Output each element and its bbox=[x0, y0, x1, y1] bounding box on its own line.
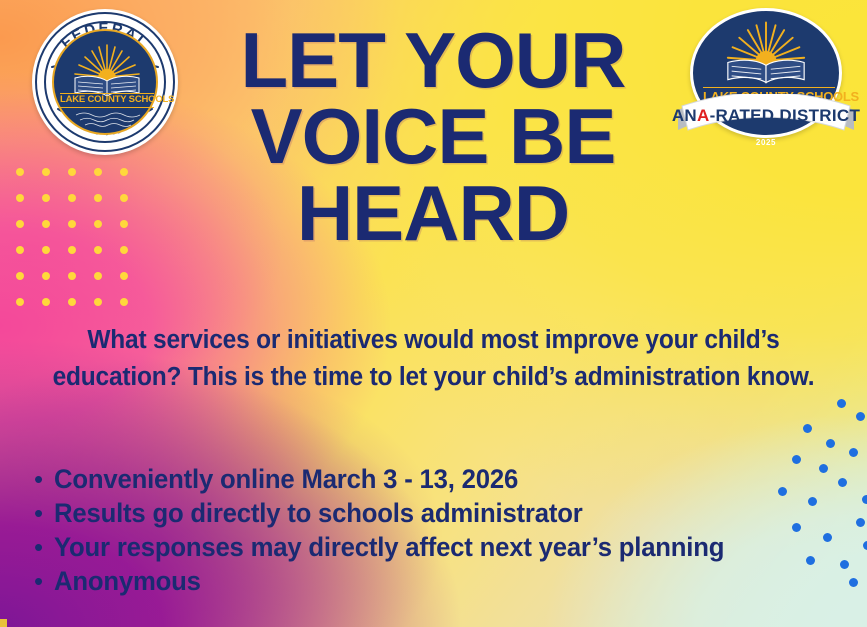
yellow-dot bbox=[16, 168, 24, 176]
seal-center-text: LAKE COUNTY SCHOOLS bbox=[60, 93, 154, 108]
yellow-dot bbox=[16, 298, 24, 306]
blue-dot bbox=[849, 578, 858, 587]
headline-line-1: LET YOUR bbox=[196, 22, 670, 98]
badge-ribbon: AN A-RATED DISTRICT 2025 bbox=[676, 94, 856, 156]
blue-dot bbox=[863, 541, 867, 550]
blue-dot bbox=[849, 448, 858, 457]
yellow-dot bbox=[94, 246, 102, 254]
page-title: LET YOUR VOICE BE HEARD bbox=[196, 22, 670, 251]
yellow-dot bbox=[68, 298, 76, 306]
federal-programs-seal: FEDERAL PROGRAMS bbox=[32, 9, 178, 155]
yellow-dot bbox=[94, 168, 102, 176]
blue-dot bbox=[803, 424, 812, 433]
yellow-dot bbox=[94, 194, 102, 202]
yellow-dot bbox=[16, 220, 24, 228]
yellow-dot bbox=[68, 168, 76, 176]
yellow-dot bbox=[68, 220, 76, 228]
blue-dot bbox=[792, 455, 801, 464]
yellow-dot bbox=[120, 168, 128, 176]
bullet-marker-icon: • bbox=[34, 568, 54, 594]
yellow-dot bbox=[120, 298, 128, 306]
yellow-dot bbox=[16, 194, 24, 202]
list-item-label: Results go directly to schools administr… bbox=[54, 500, 583, 527]
blue-dot bbox=[856, 518, 865, 527]
yellow-dot bbox=[68, 246, 76, 254]
blue-dot bbox=[862, 495, 867, 504]
yellow-dot bbox=[120, 194, 128, 202]
blue-dot bbox=[837, 399, 846, 408]
list-item-label: Anonymous bbox=[54, 568, 201, 595]
list-item: •Results go directly to schools administ… bbox=[34, 500, 834, 534]
blue-dot bbox=[838, 478, 847, 487]
bullet-marker-icon: • bbox=[34, 534, 54, 560]
seal-inner-disc: LAKE COUNTY SCHOOLS bbox=[52, 29, 158, 135]
yellow-dot bbox=[94, 298, 102, 306]
yellow-dot bbox=[16, 246, 24, 254]
corner-artifact bbox=[0, 619, 7, 627]
badge-year: 2025 bbox=[676, 138, 856, 147]
yellow-dot bbox=[42, 168, 50, 176]
bullet-marker-icon: • bbox=[34, 466, 54, 492]
yellow-dot bbox=[94, 220, 102, 228]
subhead-paragraph: What services or initiatives would most … bbox=[37, 322, 831, 396]
yellow-dot bbox=[42, 220, 50, 228]
blue-dot bbox=[840, 560, 849, 569]
a-rated-district-badge: LAKE COUNTY SCHOOLS AN A-RATED DISTRICT … bbox=[676, 8, 856, 163]
blue-dot bbox=[826, 439, 835, 448]
list-item: •Conveniently online March 3 - 13, 2026 bbox=[34, 466, 834, 500]
ribbon-text: AN A-RATED DISTRICT bbox=[676, 94, 856, 138]
yellow-dot bbox=[42, 298, 50, 306]
yellow-dot bbox=[42, 272, 50, 280]
yellow-dot bbox=[68, 194, 76, 202]
list-item-label: Conveniently online March 3 - 13, 2026 bbox=[54, 466, 518, 493]
yellow-dot bbox=[94, 272, 102, 280]
flyer-canvas: FEDERAL PROGRAMS bbox=[0, 0, 867, 627]
headline-line-2: VOICE BE bbox=[196, 98, 670, 174]
water-lines bbox=[76, 113, 140, 127]
ribbon-grade: A bbox=[697, 106, 710, 126]
seal-emblem bbox=[54, 31, 160, 137]
ribbon-prefix: AN bbox=[672, 106, 697, 126]
yellow-dot bbox=[16, 272, 24, 280]
yellow-dot bbox=[42, 194, 50, 202]
yellow-dot bbox=[68, 272, 76, 280]
blue-dot bbox=[856, 412, 865, 421]
yellow-dot bbox=[42, 246, 50, 254]
benefits-list: •Conveniently online March 3 - 13, 2026•… bbox=[34, 466, 834, 602]
yellow-dot bbox=[120, 220, 128, 228]
bullet-marker-icon: • bbox=[34, 500, 54, 526]
list-item: •Your responses may directly affect next… bbox=[34, 534, 834, 568]
headline-line-3: HEARD bbox=[196, 175, 670, 251]
list-item: •Anonymous bbox=[34, 568, 834, 602]
yellow-dot bbox=[120, 246, 128, 254]
yellow-dot bbox=[120, 272, 128, 280]
list-item-label: Your responses may directly affect next … bbox=[54, 534, 724, 561]
ribbon-suffix: -RATED DISTRICT bbox=[710, 106, 861, 126]
